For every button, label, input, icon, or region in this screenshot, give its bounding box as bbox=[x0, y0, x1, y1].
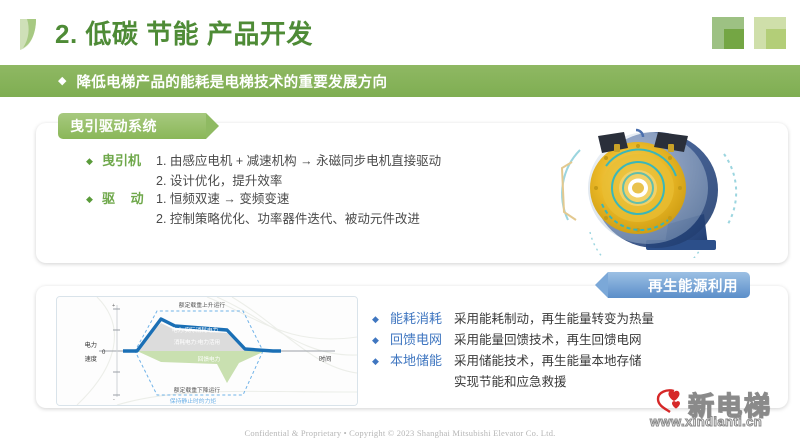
svg-text:速度: 速度 bbox=[85, 355, 97, 363]
svg-text:-: - bbox=[113, 397, 115, 403]
traction-item-line1: 1. 恒频双速 → 变频变速 bbox=[156, 190, 289, 208]
svg-text:+: + bbox=[112, 303, 115, 309]
list-item: ◆ 曳引机 1. 由感应电机 + 减速机构 → 永磁同步电机直接驱动 bbox=[86, 152, 486, 170]
traction-item-line2: 2. 设计优化，提升效率 bbox=[156, 172, 486, 190]
renewable-item-text: 采用储能技术，再生能量本地存储 bbox=[454, 352, 642, 370]
logo-url: www.xindianti.cn bbox=[650, 414, 762, 429]
slide-header: 2. 低碳 节能 产品开发 bbox=[0, 0, 800, 62]
power-profile-chart: 电力 速度 0 + - 时间 额定载重上升运行 电力:实际消耗电力 消耗电力:电… bbox=[56, 296, 358, 406]
svg-text:电力: 电力 bbox=[85, 341, 97, 349]
svg-text:时间: 时间 bbox=[319, 355, 331, 363]
traction-machine-image bbox=[528, 128, 778, 258]
traction-item-key: 曳引机 bbox=[102, 152, 156, 170]
tab-renewable-energy[interactable]: 再生能源利用 bbox=[608, 272, 750, 298]
renewable-item-text: 采用能耗制动，再生能量转变为热量 bbox=[454, 310, 654, 328]
renewable-bullet-list: ◆ 能耗消耗 采用能耗制动，再生能量转变为热量 ◆ 回馈电网 采用能量回馈技术，… bbox=[372, 310, 772, 391]
diamond-icon: ◆ bbox=[372, 331, 390, 349]
decorative-square-2 bbox=[754, 17, 786, 49]
renewable-item-key: 回馈电网 bbox=[390, 331, 454, 349]
list-item: ◆ 能耗消耗 采用能耗制动，再生能量转变为热量 bbox=[372, 310, 772, 328]
tab-traction-system[interactable]: 曳引驱动系统 bbox=[58, 113, 206, 139]
slide-root: 2. 低碳 节能 产品开发 ◆ 降低电梯产品的能耗是电梯技术的重要发展方向 曳引… bbox=[0, 0, 800, 448]
svg-text:回馈电力: 回馈电力 bbox=[198, 355, 221, 363]
svg-text:消耗电力:电力活用: 消耗电力:电力活用 bbox=[174, 338, 220, 346]
diamond-icon: ◆ bbox=[86, 152, 102, 170]
leaf-icon bbox=[18, 17, 48, 51]
tab-renewable-label: 再生能源利用 bbox=[648, 275, 750, 296]
traction-bullet-list: ◆ 曳引机 1. 由感应电机 + 减速机构 → 永磁同步电机直接驱动 2. 设计… bbox=[86, 152, 486, 228]
page-title: 2. 低碳 节能 产品开发 bbox=[55, 14, 313, 51]
tab-traction-label: 曳引驱动系统 bbox=[58, 116, 157, 136]
watermark-logo: 新电梯 www.xindianti.cn bbox=[650, 386, 794, 436]
traction-item-key: 驱 动 bbox=[102, 190, 156, 208]
chart-svg: 电力 速度 0 + - 时间 额定载重上升运行 电力:实际消耗电力 消耗电力:电… bbox=[57, 297, 357, 405]
band-text: 降低电梯产品的能耗是电梯技术的重要发展方向 bbox=[76, 71, 387, 92]
renewable-item-key: 能耗消耗 bbox=[390, 310, 454, 328]
list-item: ◆ 回馈电网 采用能量回馈技术，再生回馈电网 bbox=[372, 331, 772, 349]
band-diamond-icon: ◆ bbox=[58, 76, 66, 87]
list-item: ◆ 驱 动 1. 恒频双速 → 变频变速 bbox=[86, 190, 486, 208]
traction-item-line2: 2. 控制策略优化、功率器件迭代、被动元件改进 bbox=[156, 210, 486, 228]
diamond-icon: ◆ bbox=[86, 190, 102, 208]
diamond-icon: ◆ bbox=[372, 310, 390, 328]
traction-item-line1: 1. 由感应电机 + 减速机构 → 永磁同步电机直接驱动 bbox=[156, 152, 441, 170]
svg-text:电力:实际消耗电力: 电力:实际消耗电力 bbox=[172, 326, 219, 334]
renewable-item-key: 本地储能 bbox=[390, 352, 454, 370]
svg-text:保持静止时的力矩: 保持静止时的力矩 bbox=[170, 397, 217, 405]
subtitle-band: ◆ 降低电梯产品的能耗是电梯技术的重要发展方向 bbox=[0, 65, 800, 97]
svg-text:额定载重上升运行: 额定载重上升运行 bbox=[179, 301, 226, 309]
decorative-squares bbox=[712, 17, 790, 49]
diamond-icon: ◆ bbox=[372, 352, 390, 370]
list-item: ◆ 本地储能 采用储能技术，再生能量本地存储 bbox=[372, 352, 772, 370]
svg-text:额定载重下降运行: 额定载重下降运行 bbox=[174, 386, 221, 394]
renewable-item-text: 采用能量回馈技术，再生回馈电网 bbox=[454, 331, 642, 349]
logo-mark-icon bbox=[654, 388, 684, 414]
decorative-square-1 bbox=[712, 17, 744, 49]
